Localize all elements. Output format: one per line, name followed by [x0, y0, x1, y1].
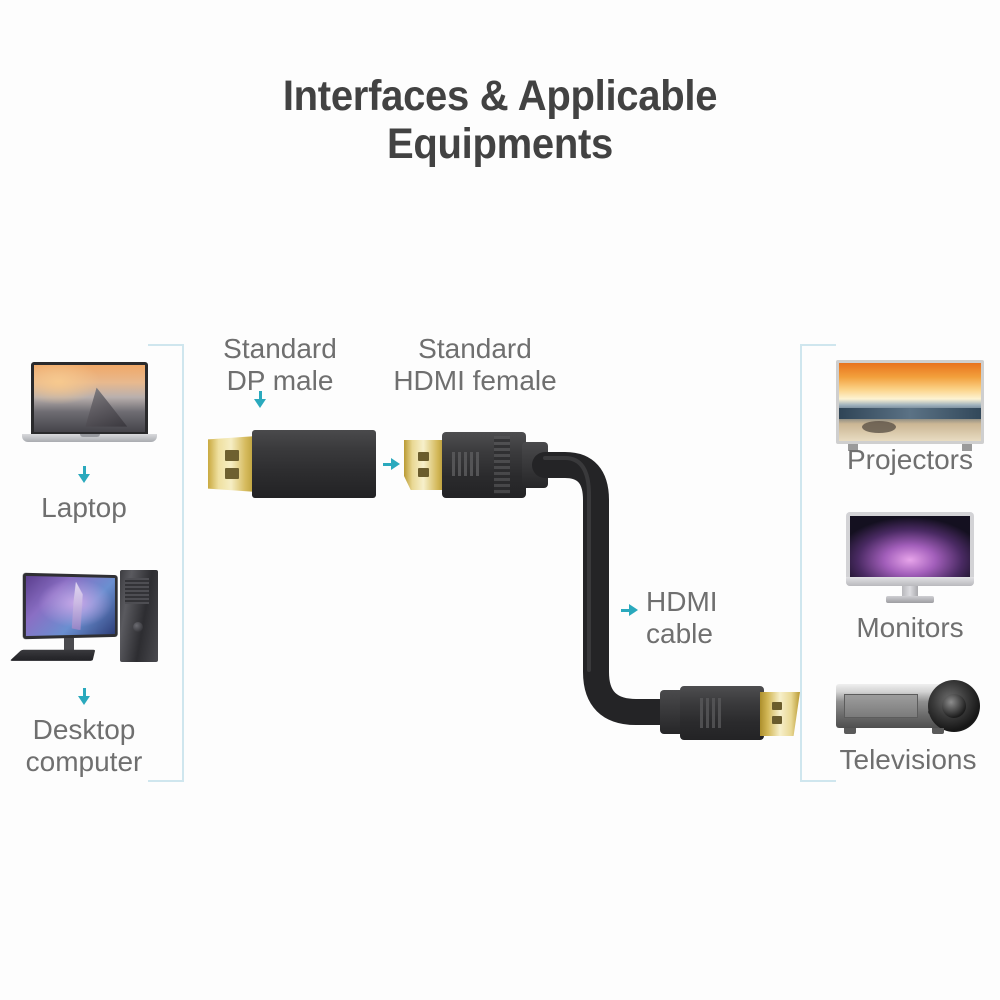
- hdmi2-pad-1: [772, 702, 782, 710]
- right-item-label-monitors: Monitors: [820, 612, 1000, 644]
- imac-screen: [846, 512, 974, 586]
- imac-wallpaper: [850, 516, 970, 577]
- imac-base: [886, 596, 934, 603]
- hdmi-emboss-text-bottom: [700, 698, 724, 728]
- projector-lens: [928, 680, 980, 732]
- infographic-canvas: Interfaces & Applicable Equipments Lapto…: [0, 0, 1000, 1000]
- projector-icon: [836, 676, 986, 738]
- cable-arrow-icon: [629, 604, 638, 616]
- hdmi-plug-gold-bottom: [760, 692, 800, 736]
- projector-foot-right: [932, 728, 944, 734]
- imac-neck: [902, 586, 918, 596]
- hdmi2-pad-2: [772, 716, 782, 724]
- right-item-label-televisions: Televisions: [812, 744, 1000, 776]
- projector-foot-left: [844, 728, 856, 734]
- television-icon: [836, 360, 984, 456]
- imac-chin: [846, 577, 974, 586]
- cable-arrow-stem: [621, 609, 630, 612]
- tv-screen: [836, 360, 984, 444]
- right-item-label-projectors: Projectors: [820, 444, 1000, 476]
- imac-monitor-icon: [846, 512, 974, 604]
- hdmi-cable-path: [0, 0, 1000, 1000]
- tv-wallpaper: [839, 363, 981, 441]
- projector-panel: [844, 694, 918, 718]
- hdmi-cable-label: HDMI cable: [646, 586, 806, 650]
